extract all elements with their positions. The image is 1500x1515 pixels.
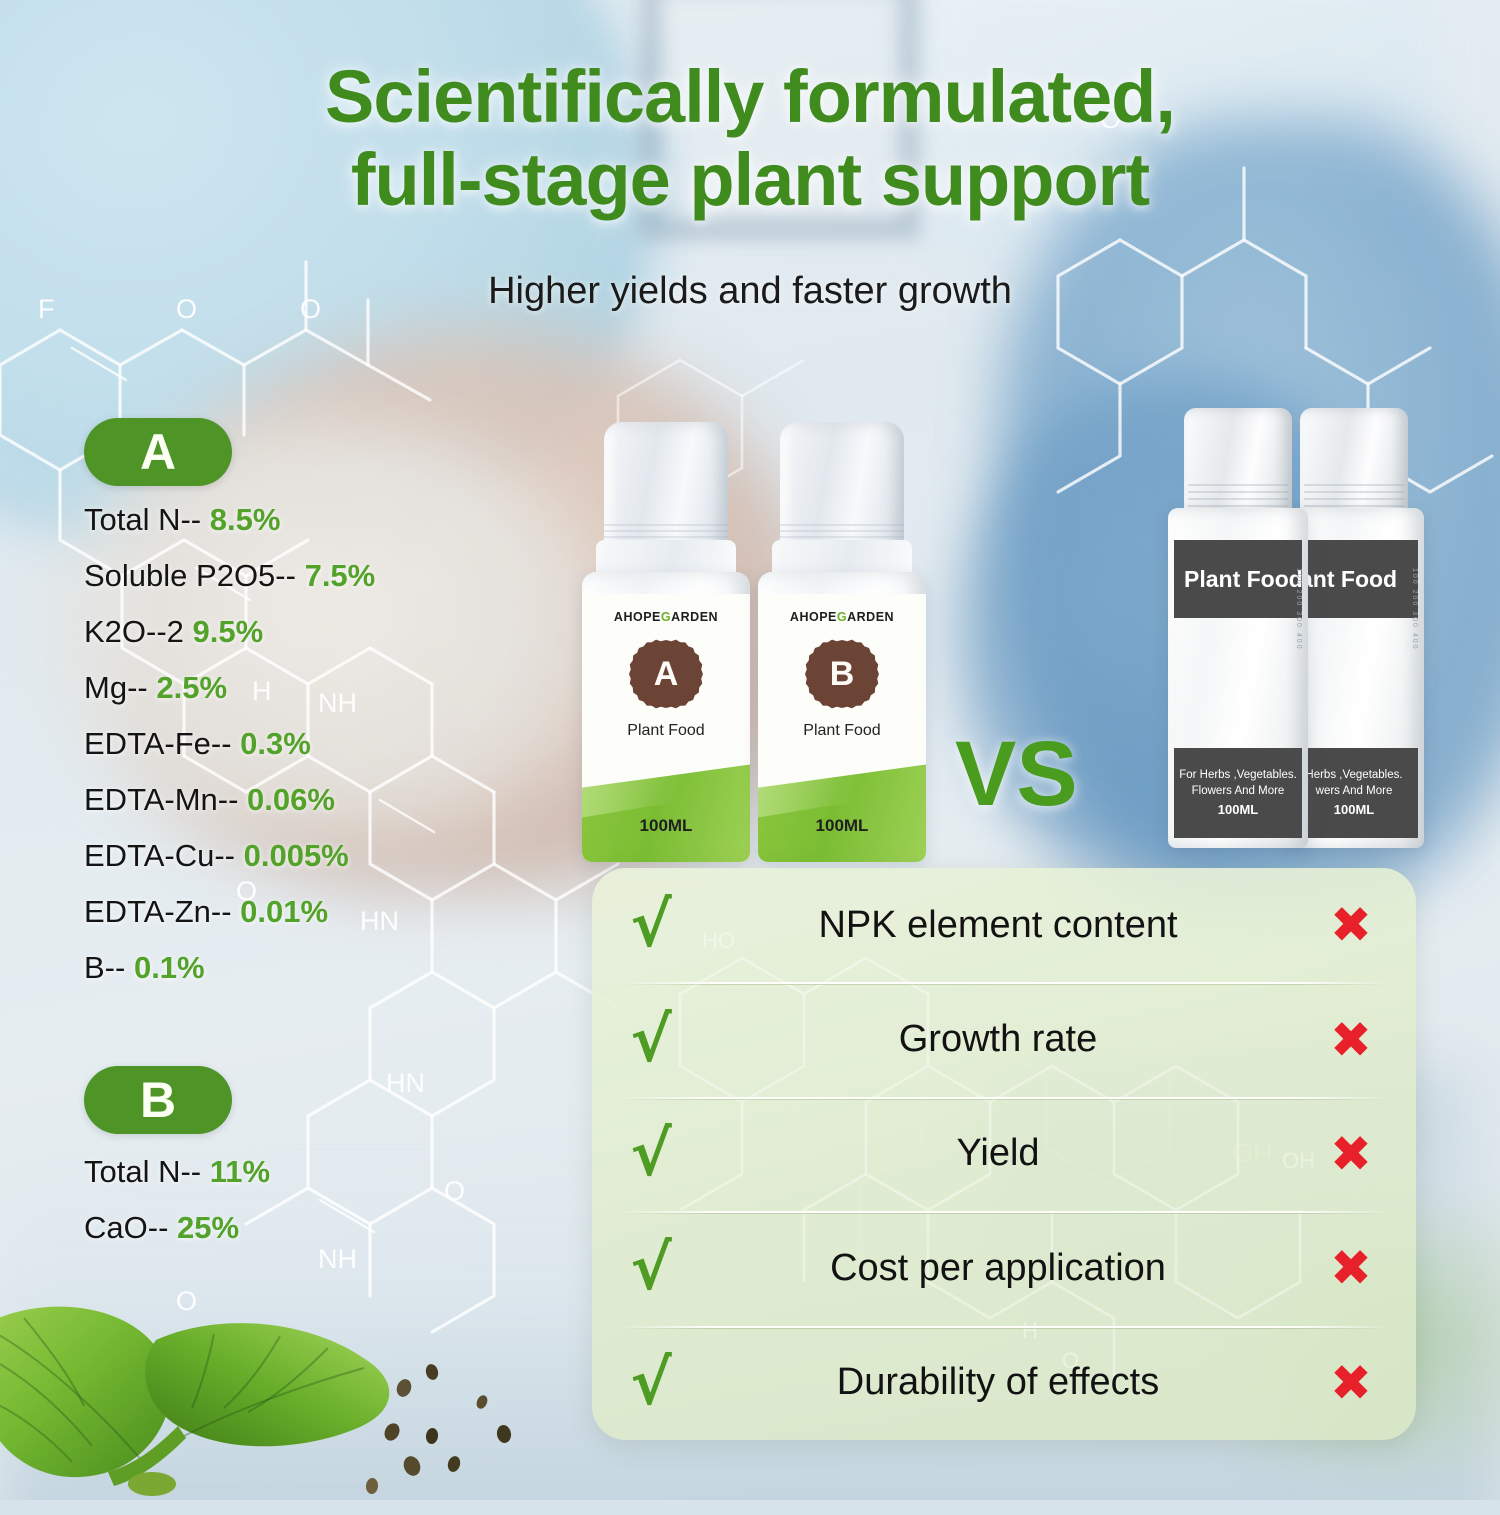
bottle-body: Plant Food 100 200 300 400 For Herbs ,Ve… [1168,508,1308,848]
comparison-row: √ Durability of effects ✖ [592,1326,1416,1440]
bottle-body: AHOPEGARDEN A Plant Food 100ML [582,572,750,862]
nutrient-value: 25% [177,1210,239,1245]
formula-a-block: A Total N-- 8.5% Soluble P2O5-- 7.5% K2O… [84,418,375,986]
bottle-badge-a: A [629,637,703,711]
comparison-panel: HO OH H O √ NPK element content ✖ √ Grow… [592,868,1416,1440]
competitor-volume: 100ML [1218,801,1258,819]
check-icon: √ [592,1237,710,1299]
nutrient-label: Total N-- [84,502,201,537]
nutrient-row: EDTA-Cu-- 0.005% [84,838,375,874]
nutrient-row: Total N-- 11% [84,1154,270,1190]
brand-logo: AHOPEGARDEN [582,610,750,624]
nutrient-value: 0.3% [240,726,311,761]
nutrient-row: K2O--2 9.5% [84,614,375,650]
cross-icon: ✖ [1286,1129,1416,1179]
check-icon: √ [592,1123,710,1185]
cross-icon: ✖ [1286,1358,1416,1408]
brand-suffix: ARDEN [671,610,718,624]
nutrient-label: B-- [84,950,125,985]
bottle-cap [604,422,728,550]
nutrient-value: 7.5% [305,558,376,593]
nutrient-row: B-- 0.1% [84,950,375,986]
competitor-usage-line-2: Flowers And More [1192,783,1285,799]
formula-a-badge: A [84,418,232,486]
cross-icon: ✖ [1286,1243,1416,1293]
bottle-measure-scale: 100 200 300 400 [1404,568,1418,738]
nutrient-row: Mg-- 2.5% [84,670,375,706]
bottle-wave-graphic [758,756,926,862]
nutrient-value: 8.5% [210,502,281,537]
basil-leaves-svg [0,1260,540,1510]
bottle-cap [1300,408,1408,518]
bottle-product-name: Plant Food [758,722,926,740]
headline-line-2: full-stage plant support [0,139,1500,222]
own-bottle-b: AHOPEGARDEN B Plant Food 100ML [758,422,926,862]
nutrient-value: 2.5% [156,670,227,705]
versus-label: VS [955,722,1078,827]
nutrient-row: Soluble P2O5-- 7.5% [84,558,375,594]
competitor-label-bottom: Herbs ,Vegetables. wers And More 100ML [1290,748,1418,838]
bottle-cap [780,422,904,550]
bottle-label: AHOPEGARDEN A Plant Food 100ML [582,594,750,862]
nutrient-value: 9.5% [193,614,264,649]
competitor-usage-line-1: Herbs ,Vegetables. [1305,767,1402,783]
comparison-feature-label: Yield [710,1132,1286,1175]
bottle-body: AHOPEGARDEN B Plant Food 100ML [758,572,926,862]
check-icon: √ [592,1009,710,1071]
bottle-volume: 100ML [582,816,750,836]
comparison-feature-label: Cost per application [710,1247,1286,1290]
leaf-icon: G [837,610,847,624]
nutrient-label: EDTA-Zn-- [84,894,232,929]
competitor-title: Plant Food [1184,566,1303,593]
brand-prefix: AHOPE [790,610,837,624]
page-headline: Scientifically formulated, full-stage pl… [0,56,1500,222]
headline-line-1: Scientifically formulated, [325,55,1175,138]
own-product-bottles: AHOPEGARDEN A Plant Food 100ML AHOPEGARD… [582,362,942,862]
nutrient-row: EDTA-Fe-- 0.3% [84,726,375,762]
formula-b-badge: B [84,1066,232,1134]
competitor-bottle-1: Plant Food 100 200 300 400 For Herbs ,Ve… [1168,408,1308,848]
nutrient-label: EDTA-Cu-- [84,838,235,873]
nutrient-row: EDTA-Zn-- 0.01% [84,894,375,930]
bottle-cap [1184,408,1292,518]
cross-icon: ✖ [1286,900,1416,950]
check-icon: √ [592,1352,710,1414]
competitor-usage-line-2: wers And More [1316,783,1393,799]
comparison-row: √ NPK element content ✖ [592,868,1416,982]
competitor-label-top: ant Food [1290,540,1418,618]
competitor-label-top: Plant Food [1174,540,1302,618]
nutrient-label: Total N-- [84,1154,201,1189]
page-subtitle: Higher yields and faster growth [0,270,1500,313]
nutrient-label: EDTA-Fe-- [84,726,232,761]
nutrient-label: CaO-- [84,1210,168,1245]
comparison-row: √ Yield ✖ [592,1097,1416,1211]
own-bottle-a: AHOPEGARDEN A Plant Food 100ML [582,422,750,862]
competitor-usage-line-1: For Herbs ,Vegetables. [1179,767,1297,783]
competitor-label-bottom: For Herbs ,Vegetables. Flowers And More … [1174,748,1302,838]
nutrient-row: EDTA-Mn-- 0.06% [84,782,375,818]
nutrient-value: 0.1% [134,950,205,985]
formula-b-block: B Total N-- 11% CaO-- 25% [84,1066,270,1246]
leaf-icon: G [661,610,671,624]
check-icon: √ [592,894,710,956]
nutrient-value: 0.005% [244,838,349,873]
formula-a-nutrient-list: Total N-- 8.5% Soluble P2O5-- 7.5% K2O--… [84,502,375,986]
bottle-wave-graphic [582,756,750,862]
comparison-row: √ Growth rate ✖ [592,982,1416,1096]
nutrient-value: 11% [210,1154,270,1189]
bottle-measure-scale: 100 200 300 400 [1288,568,1302,738]
nutrient-row: Total N-- 8.5% [84,502,375,538]
bottle-volume: 100ML [758,816,926,836]
basil-plant-image [0,1260,540,1510]
nutrient-label: K2O--2 [84,614,184,649]
bottle-badge-b: B [805,637,879,711]
nutrient-label: EDTA-Mn-- [84,782,238,817]
brand-logo: AHOPEGARDEN [758,610,926,624]
comparison-row: √ Cost per application ✖ [592,1211,1416,1325]
comparison-feature-label: NPK element content [710,904,1286,947]
nutrient-label: Soluble P2O5-- [84,558,296,593]
competitor-product-bottles: ant Food 100 200 300 400 Herbs ,Vegetabl… [1168,388,1424,848]
competitor-volume: 100ML [1334,801,1374,819]
comparison-feature-label: Growth rate [710,1018,1286,1061]
bottle-label: AHOPEGARDEN B Plant Food 100ML [758,594,926,862]
nutrient-label: Mg-- [84,670,148,705]
comparison-feature-label: Durability of effects [710,1361,1286,1404]
competitor-title: ant Food [1300,566,1397,593]
brand-suffix: ARDEN [847,610,894,624]
nutrient-value: 0.01% [240,894,328,929]
bottle-product-name: Plant Food [582,722,750,740]
formula-b-nutrient-list: Total N-- 11% CaO-- 25% [84,1154,270,1246]
cross-icon: ✖ [1286,1015,1416,1065]
nutrient-value: 0.06% [247,782,335,817]
nutrient-row: CaO-- 25% [84,1210,270,1246]
brand-prefix: AHOPE [614,610,661,624]
